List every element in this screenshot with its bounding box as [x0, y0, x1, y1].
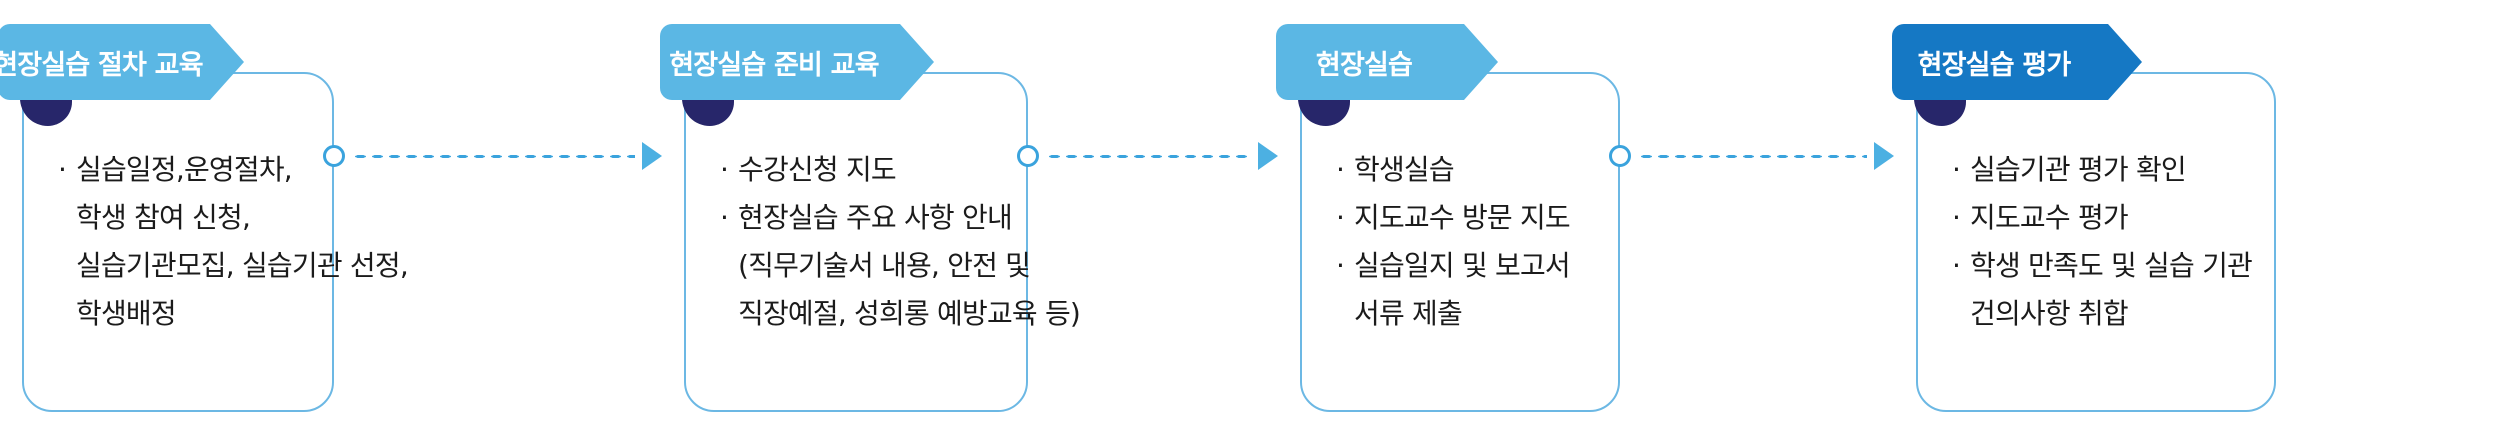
step-detail-continuation: 실습기관모집, 실습기관 선정,: [58, 243, 318, 289]
process-step-card-1: 실습일정,운영절차,학생 참여 신청,실습기관모집, 실습기관 선정,학생배정현…: [22, 24, 334, 412]
step-detail-list: 학생실습지도교수 방문 지도실습일지 및 보고서서류 제출: [1336, 74, 1604, 410]
step-header-tab: 현장실습 평가: [1892, 24, 2142, 100]
step-header-label: 현장실습 준비 교육: [669, 43, 925, 82]
step-header-tab: 현장실습: [1276, 24, 1498, 100]
step-header-label: 현장실습 절차 교육: [0, 43, 249, 82]
step-header-label: 현장실습 평가: [1918, 43, 2117, 82]
connector-3-4: [1609, 141, 1894, 171]
connector-2-3: [1017, 141, 1278, 171]
connector-dotted-line: [352, 154, 635, 159]
process-step-card-2: 수강신청 지도현장실습 주요 사항 안내(직무기술서 내용, 안전 및직장예절,…: [684, 24, 1028, 412]
step-card-body: 실습기관 평가 확인지도교수 평가학생 만족도 및 실습 기관건의사항 취합: [1916, 72, 2276, 412]
step-detail-item: 실습일정,운영절차,: [58, 147, 318, 193]
step-detail-continuation: 학생배정: [58, 291, 318, 337]
step-detail-item: 지도교수 방문 지도: [1336, 195, 1604, 241]
step-header-label: 현장실습: [1316, 43, 1458, 82]
connector-1-2: [323, 141, 662, 171]
step-card-body: 실습일정,운영절차,학생 참여 신청,실습기관모집, 실습기관 선정,학생배정: [22, 72, 334, 412]
step-card-body: 수강신청 지도현장실습 주요 사항 안내(직무기술서 내용, 안전 및직장예절,…: [684, 72, 1028, 412]
connector-arrow-icon: [1258, 142, 1278, 170]
connector-arrow-icon: [642, 142, 662, 170]
step-detail-list: 실습기관 평가 확인지도교수 평가학생 만족도 및 실습 기관건의사항 취합: [1952, 74, 2260, 410]
step-detail-list: 실습일정,운영절차,학생 참여 신청,실습기관모집, 실습기관 선정,학생배정: [58, 74, 318, 410]
step-detail-continuation: 서류 제출: [1336, 291, 1604, 337]
step-detail-continuation: (직무기술서 내용, 안전 및: [720, 243, 1012, 289]
step-detail-item: 학생실습: [1336, 147, 1604, 193]
process-step-card-3: 학생실습지도교수 방문 지도실습일지 및 보고서서류 제출현장실습: [1300, 24, 1620, 412]
connector-dotted-line: [1638, 154, 1867, 159]
connector-node-icon: [1609, 145, 1631, 167]
step-header-tab: 현장실습 절차 교육: [0, 24, 244, 100]
step-detail-list: 수강신청 지도현장실습 주요 사항 안내(직무기술서 내용, 안전 및직장예절,…: [720, 74, 1012, 410]
step-detail-item: 학생 만족도 및 실습 기관: [1952, 243, 2260, 289]
connector-node-icon: [1017, 145, 1039, 167]
step-detail-continuation: 학생 참여 신청,: [58, 195, 318, 241]
process-flow-diagram: 실습일정,운영절차,학생 참여 신청,실습기관모집, 실습기관 선정,학생배정현…: [0, 0, 2497, 436]
connector-dotted-line: [1046, 154, 1251, 159]
step-detail-item: 현장실습 주요 사항 안내: [720, 195, 1012, 241]
process-step-card-4: 실습기관 평가 확인지도교수 평가학생 만족도 및 실습 기관건의사항 취합현장…: [1916, 24, 2276, 412]
step-detail-item: 실습기관 평가 확인: [1952, 147, 2260, 193]
step-detail-continuation: 직장예절, 성희롱 예방교육 등): [720, 291, 1012, 337]
step-detail-continuation: 건의사항 취합: [1952, 291, 2260, 337]
step-header-tab: 현장실습 준비 교육: [660, 24, 934, 100]
step-detail-item: 실습일지 및 보고서: [1336, 243, 1604, 289]
step-card-body: 학생실습지도교수 방문 지도실습일지 및 보고서서류 제출: [1300, 72, 1620, 412]
connector-arrow-icon: [1874, 142, 1894, 170]
step-detail-item: 수강신청 지도: [720, 147, 1012, 193]
step-detail-item: 지도교수 평가: [1952, 195, 2260, 241]
connector-node-icon: [323, 145, 345, 167]
